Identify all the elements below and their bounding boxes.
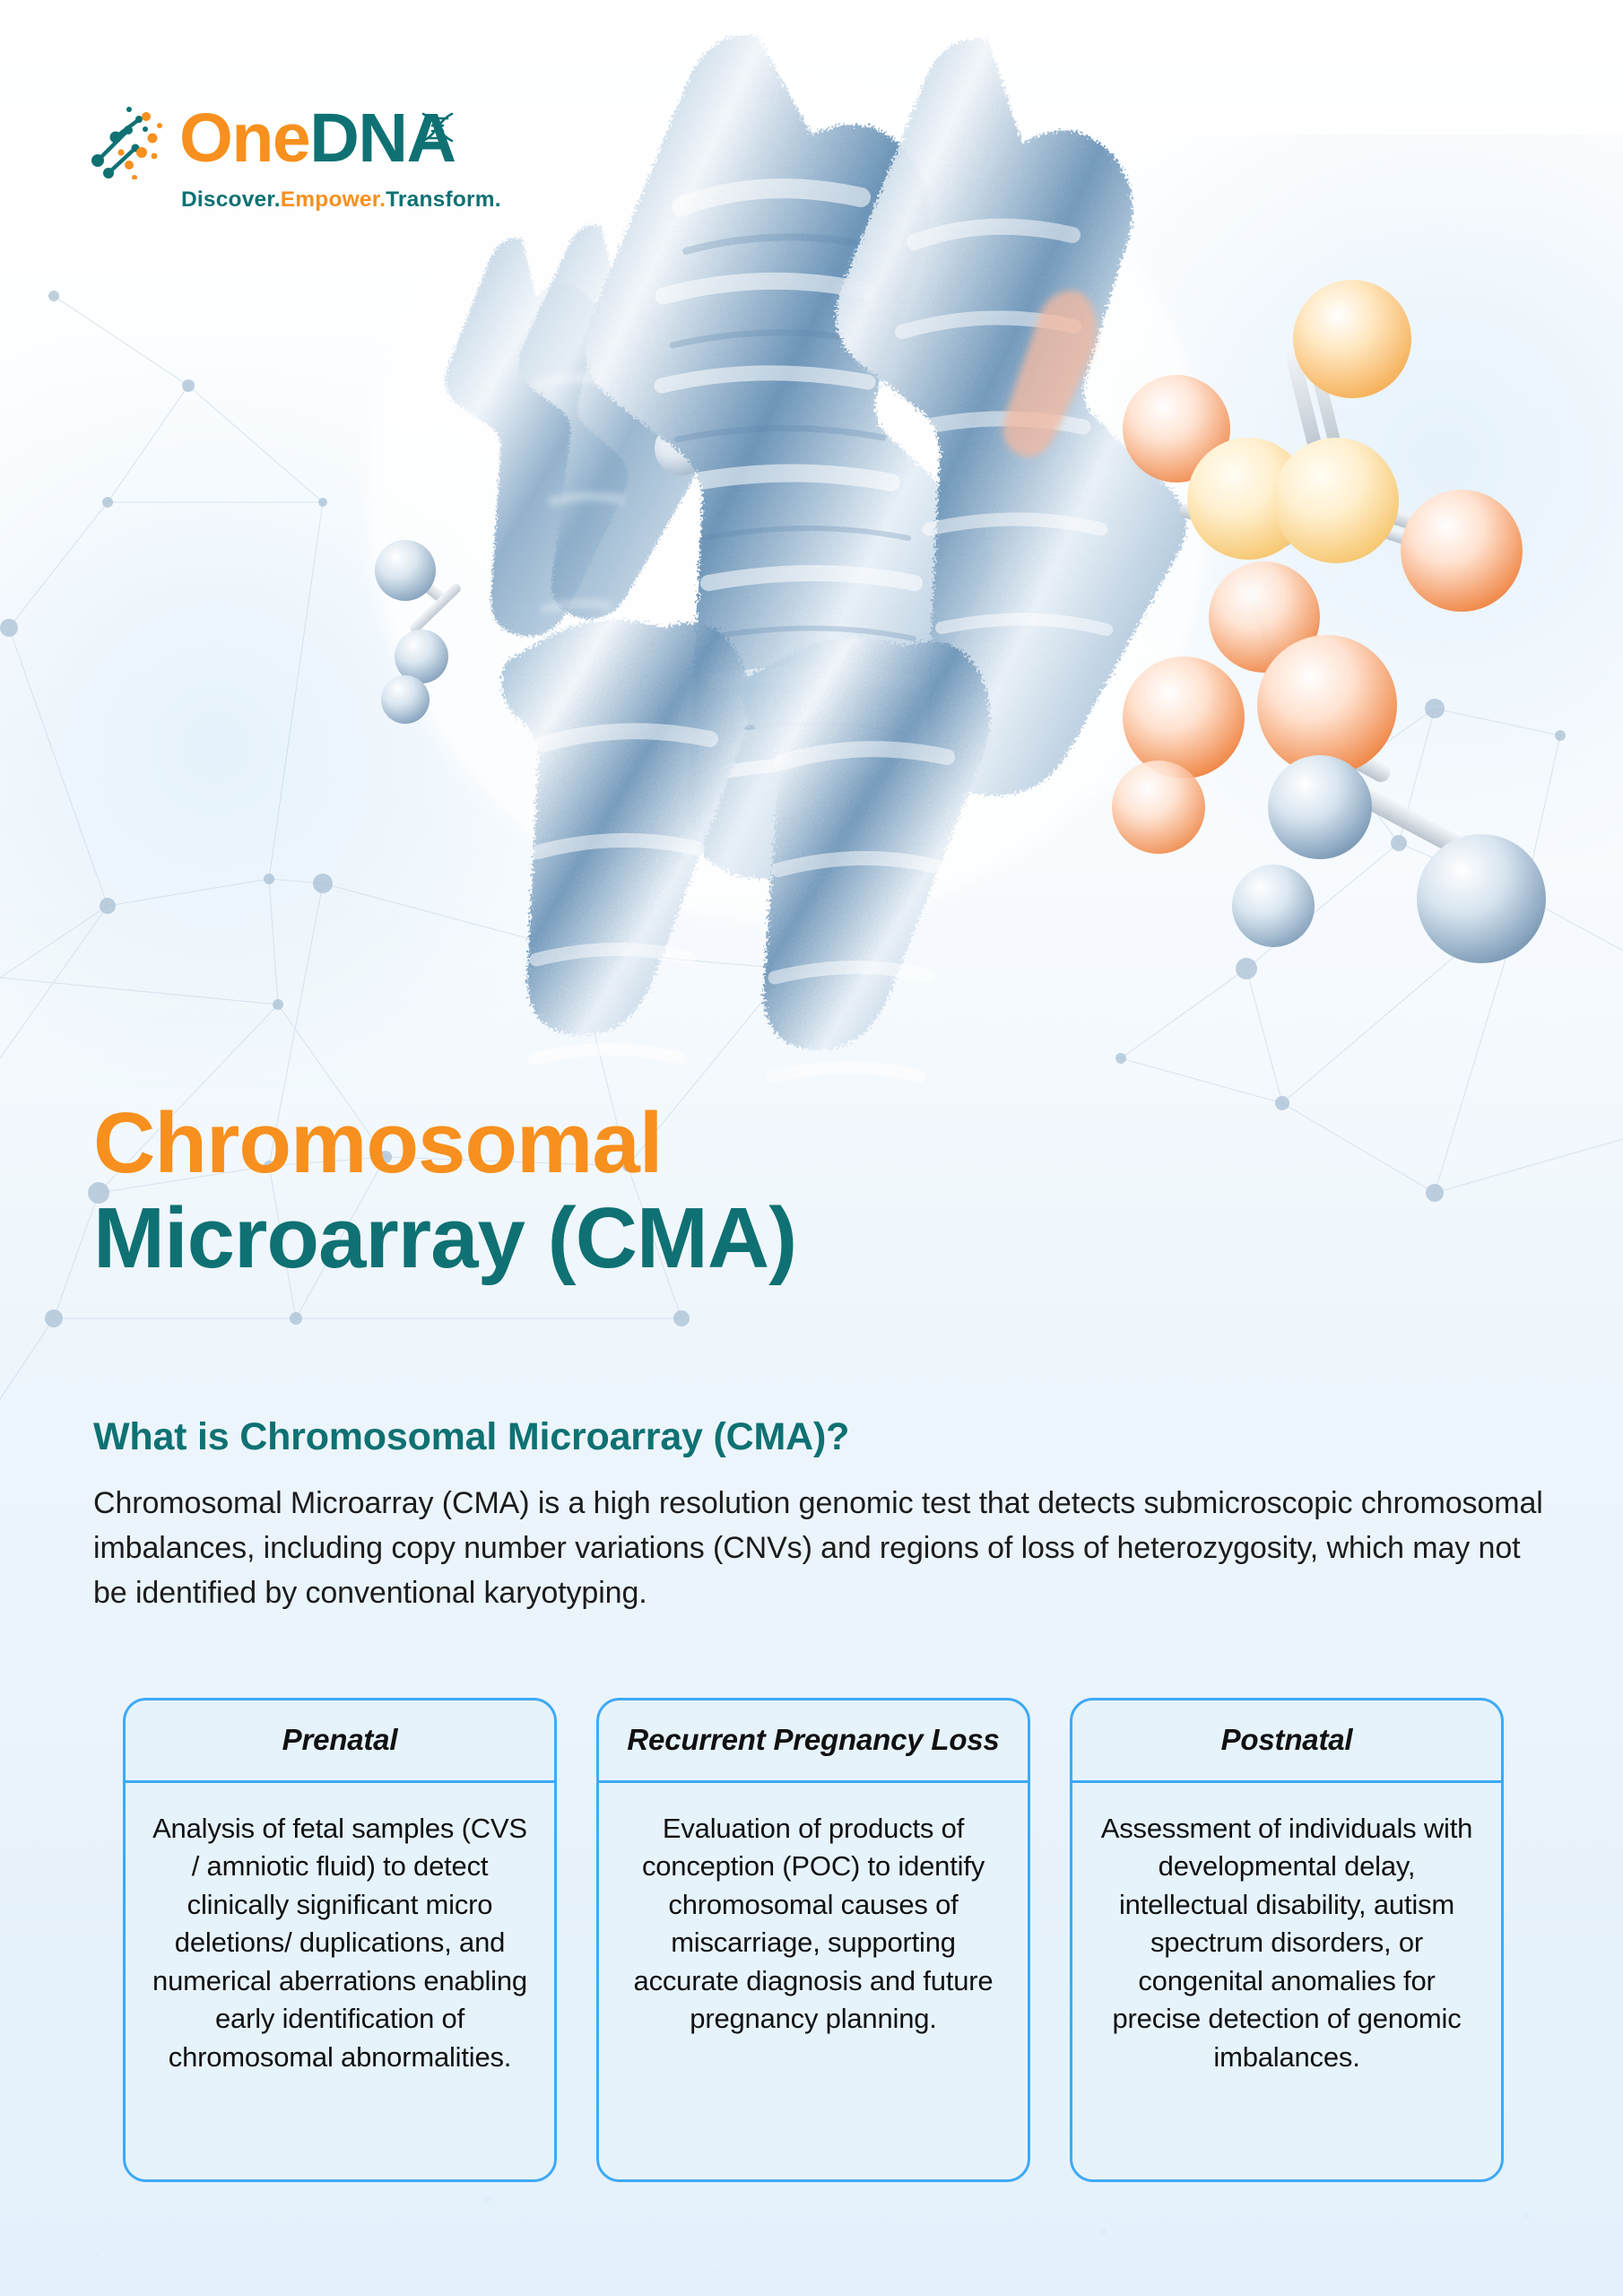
card-recurrent-pregnancy-loss-body: Evaluation of products of conception (PO…	[599, 1783, 1028, 2179]
card-prenatal[interactable]: Prenatal Analysis of fetal samples (CVS …	[123, 1698, 557, 2182]
card-postnatal-body: Assessment of individuals with developme…	[1072, 1783, 1501, 2179]
intro-paragraph: Chromosomal Microarray (CMA) is a high r…	[93, 1482, 1555, 1616]
tagline-transform: Transform.	[386, 187, 501, 212]
page-title: Chromosomal Microarray (CMA)	[93, 1096, 1349, 1285]
card-postnatal-title: Postnatal	[1221, 1723, 1353, 1758]
card-prenatal-body: Analysis of fetal samples (CVS / amnioti…	[126, 1783, 554, 2179]
card-postnatal[interactable]: Postnatal Assessment of individuals with…	[1070, 1698, 1504, 2182]
intro-section: What is Chromosomal Microarray (CMA)? Ch…	[93, 1415, 1555, 1616]
card-prenatal-header: Prenatal	[126, 1700, 554, 1783]
tagline-empower: Empower.	[281, 187, 386, 212]
logo-wordmark: One DNA	[179, 107, 456, 170]
logo-row: One DNA	[90, 97, 457, 179]
page-title-line-1: Chromosomal	[93, 1096, 1349, 1191]
tagline-discover: Discover.	[181, 187, 281, 212]
intro-heading: What is Chromosomal Microarray (CMA)?	[93, 1415, 1555, 1459]
brand-tagline: Discover.Empower.Transform.	[181, 187, 501, 213]
card-postnatal-header: Postnatal	[1072, 1700, 1501, 1783]
card-recurrent-pregnancy-loss[interactable]: Recurrent Pregnancy Loss Evaluation of p…	[596, 1698, 1030, 2182]
brand-logo[interactable]: One DNA Discover.Empower.Transform.	[90, 97, 501, 213]
card-recurrent-pregnancy-loss-title: Recurrent Pregnancy Loss	[627, 1723, 999, 1758]
indications-card-group: Prenatal Analysis of fetal samples (CVS …	[123, 1698, 1504, 2182]
logo-word-one: One	[179, 107, 309, 170]
poster-page: One DNA Discover.Empower.Transform. Chro…	[0, 0, 1623, 2296]
dna-burst-icon	[90, 97, 176, 179]
card-prenatal-title: Prenatal	[282, 1723, 398, 1758]
logo-word-dna: DNA	[309, 107, 455, 170]
page-title-line-2: Microarray (CMA)	[93, 1191, 1349, 1286]
card-recurrent-pregnancy-loss-header: Recurrent Pregnancy Loss	[599, 1700, 1028, 1783]
